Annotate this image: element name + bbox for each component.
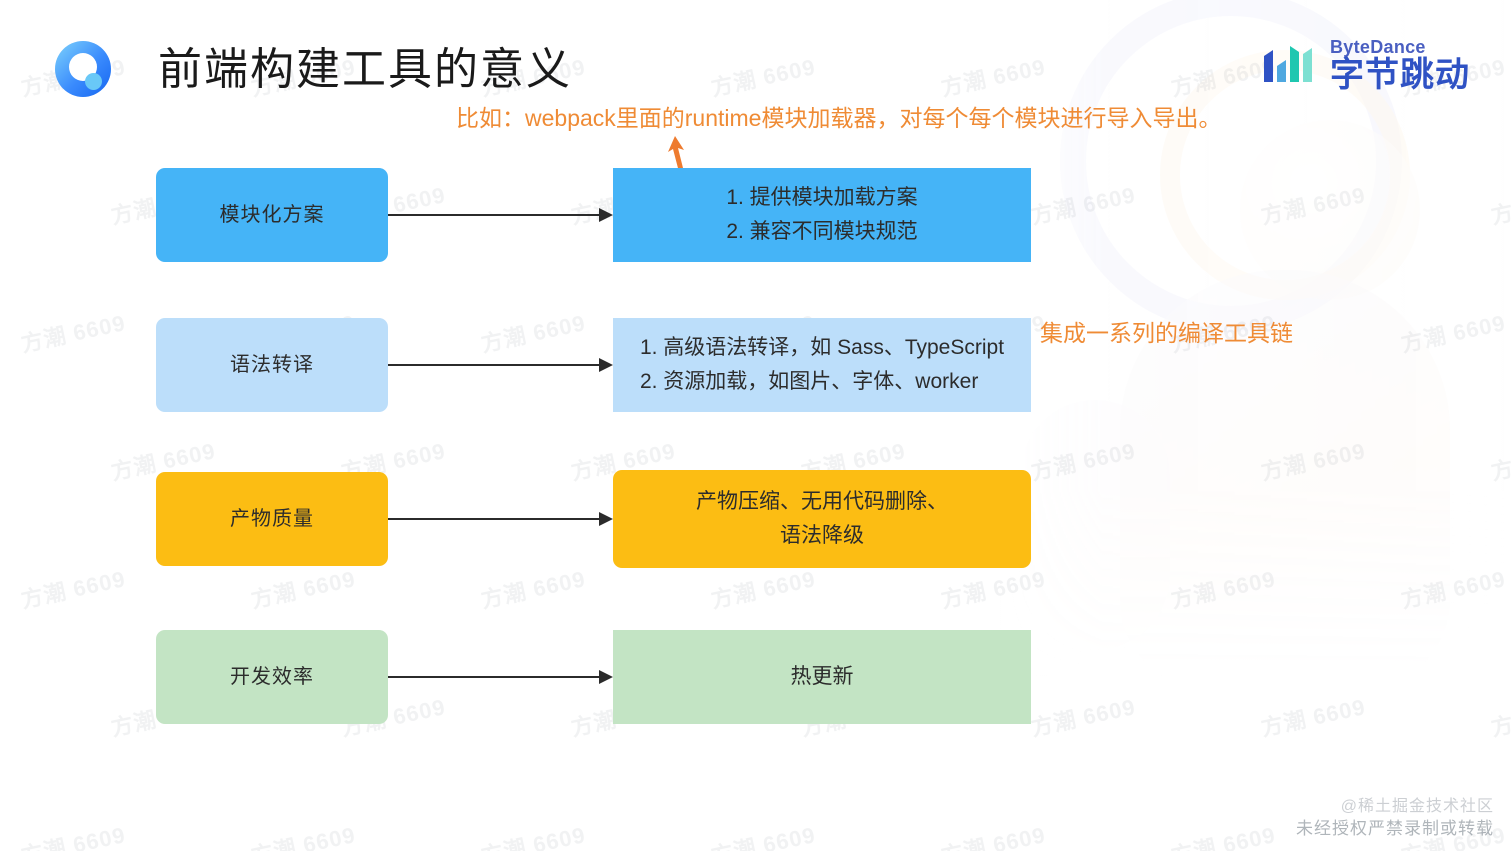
slide-canvas: 方潮 6609方潮 6609方潮 6609方潮 6609方潮 6609方潮 66…	[0, 0, 1512, 851]
watermark-tile: 方潮 6609	[1028, 689, 1138, 742]
watermark-tile: 方潮 6609	[18, 561, 128, 614]
node-left-modularization-label: 模块化方案	[220, 200, 325, 230]
node-right-output-quality-line-2: 语法降级	[696, 519, 948, 553]
watermark-tile: 方潮 6609	[1258, 433, 1368, 486]
watermark-tile: 方潮 6609	[1168, 561, 1278, 614]
watermark-copyright-text: 未经授权严禁录制或转载	[1296, 818, 1494, 841]
node-right-hot-update[interactable]: 热更新	[613, 630, 1031, 724]
connector-row-4	[388, 670, 613, 684]
watermark-tile: 方潮 6609	[708, 817, 818, 851]
brand-name-en: ByteDance	[1330, 38, 1470, 56]
watermark-tile: 方潮 6609	[1398, 305, 1508, 358]
watermark-tile: 方潮 6609	[938, 561, 1048, 614]
node-left-output-quality[interactable]: 产物质量	[156, 472, 388, 566]
node-left-modularization[interactable]: 模块化方案	[156, 168, 388, 262]
node-right-syntax-transpile-line-2: 2. 资源加载，如图片、字体、worker	[640, 365, 1004, 399]
watermark-tile: 方潮 6609	[1168, 49, 1278, 102]
watermark-tile: 方潮 6609	[1168, 817, 1278, 851]
watermark-tile: 方潮 6609	[1258, 177, 1368, 230]
node-right-modularization[interactable]: 1. 提供模块加载方案 2. 兼容不同模块规范	[613, 168, 1031, 262]
watermark-tile: 方潮 6609	[248, 817, 358, 851]
node-left-syntax-transpile[interactable]: 语法转译	[156, 318, 388, 412]
bytedance-logo: ByteDance 字节跳动	[1264, 38, 1470, 92]
node-left-output-quality-label: 产物质量	[230, 504, 314, 534]
background-shape-face	[1240, 120, 1420, 300]
background-shape-arm	[1020, 400, 1170, 650]
watermark-tile: 方潮 6609	[478, 305, 588, 358]
watermark-tile: 方潮 6609	[938, 817, 1048, 851]
node-right-output-quality[interactable]: 产物压缩、无用代码删除、 语法降级	[613, 470, 1031, 568]
watermark-tile: 方潮 6609	[478, 561, 588, 614]
watermark-tile: 方潮 6609	[1258, 689, 1368, 742]
circular-q-logo-icon	[55, 41, 111, 97]
watermark-tile: 方潮 6609	[1398, 817, 1508, 851]
watermark-tile: 方潮 6609	[1488, 433, 1512, 486]
node-left-syntax-transpile-label: 语法转译	[230, 350, 314, 380]
brand-name-cn: 字节跳动	[1330, 58, 1470, 92]
watermark-tile: 方潮 6609	[708, 49, 818, 102]
watermark-tile: 方潮 6609	[1028, 177, 1138, 230]
connector-row-1	[388, 208, 613, 222]
watermark-tile: 方潮 6609	[18, 305, 128, 358]
watermark-tile: 方潮 6609	[1398, 561, 1508, 614]
annotation-webpack-runtime: 比如：webpack里面的runtime模块加载器，对每个每个模块进行导入导出。	[456, 103, 1221, 133]
watermark-tile: 方潮 6609	[1488, 177, 1512, 230]
connector-row-2	[388, 358, 613, 372]
page-title: 前端构建工具的意义	[158, 41, 572, 99]
annotation-compile-toolchain: 集成一系列的编译工具链	[1040, 318, 1293, 348]
node-right-output-quality-line-1: 产物压缩、无用代码删除、	[696, 485, 948, 519]
watermark-tile: 方潮 6609	[708, 561, 818, 614]
connector-row-3	[388, 512, 613, 526]
watermark-tile: 方潮 6609	[938, 49, 1048, 102]
watermark-tile: 方潮 6609	[1028, 433, 1138, 486]
node-left-dev-efficiency[interactable]: 开发效率	[156, 630, 388, 724]
node-right-modularization-line-2: 2. 兼容不同模块规范	[726, 215, 917, 249]
node-right-syntax-transpile[interactable]: 1. 高级语法转译，如 Sass、TypeScript 2. 资源加载，如图片、…	[613, 318, 1031, 412]
watermark-community-text: @稀土掘金技术社区	[1296, 796, 1494, 818]
watermark-tile: 方潮 6609	[18, 817, 128, 851]
watermark-tile: 方潮 6609	[478, 817, 588, 851]
node-right-syntax-transpile-line-1: 1. 高级语法转译，如 Sass、TypeScript	[640, 331, 1004, 365]
background-bottom-fade	[1000, 490, 1512, 710]
corner-watermark: @稀土掘金技术社区 未经授权严禁录制或转载	[1296, 796, 1494, 841]
node-left-dev-efficiency-label: 开发效率	[230, 662, 314, 692]
watermark-tile: 方潮 6609	[1488, 689, 1512, 742]
orange-arrow-up-icon	[664, 136, 694, 172]
bytedance-bars-icon	[1264, 44, 1316, 86]
node-right-hot-update-label: 热更新	[791, 660, 854, 694]
node-right-modularization-line-1: 1. 提供模块加载方案	[726, 181, 917, 215]
watermark-tile: 方潮 6609	[248, 561, 358, 614]
